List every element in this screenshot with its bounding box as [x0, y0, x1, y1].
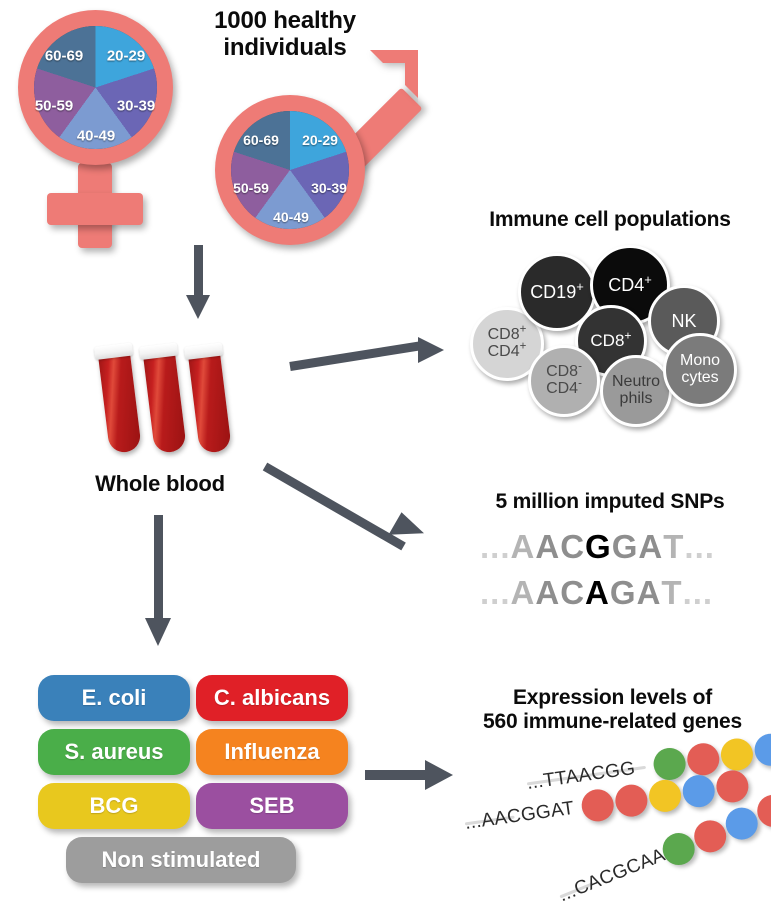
snp-allele-row: ...AACGGAT...: [480, 528, 715, 566]
pie-label-50-59: 50-59: [233, 180, 269, 196]
stimuli-panel: E. coli C. albicans S. aureus Influenza …: [38, 675, 348, 895]
stimulus-non-stimulated[interactable]: Non stimulated: [66, 837, 296, 883]
expression-title-line1: Expression levels of: [460, 686, 765, 710]
stimulus-influenza[interactable]: Influenza: [196, 729, 348, 775]
pie-label-60-69: 60-69: [45, 48, 83, 65]
pie-label-40-49: 40-49: [77, 128, 115, 145]
blood-tube: [187, 343, 232, 454]
stimulus-c-albicans[interactable]: C. albicans: [196, 675, 348, 721]
expression-bead: [647, 778, 683, 814]
snp-sequences: ...AACGGAT... ...AACAGAT...: [480, 528, 750, 618]
stimulus-e-coli[interactable]: E. coli: [38, 675, 190, 721]
stimulus-bcg[interactable]: BCG: [38, 783, 190, 829]
pie-label-20-29: 20-29: [302, 132, 338, 148]
snp-variant-allele-1: G: [585, 528, 612, 566]
male-symbol: 20-29 30-39 40-49 50-59 60-69: [210, 55, 410, 250]
expression-strands: ...TTAACGG ...AACGGAT ...CACGCAA: [455, 745, 771, 910]
pie-label-50-59: 50-59: [35, 98, 73, 115]
male-symbol-arrowhead: [362, 50, 418, 106]
arrow-blood-to-immune: [290, 330, 460, 380]
pie-label-60-69: 60-69: [243, 132, 279, 148]
blood-tube-body: [188, 352, 232, 454]
snp-variant-allele-2: A: [585, 574, 610, 612]
pie-label-40-49: 40-49: [273, 209, 309, 225]
arrowhead-icon: [145, 618, 171, 646]
arrow-blood-to-stimuli: [145, 515, 171, 655]
expression-bead: [580, 787, 616, 823]
immune-cell-monocytes: Monocytes: [663, 333, 737, 407]
immune-cell-populations-title: Immune cell populations: [455, 208, 765, 232]
expression-title: Expression levels of 560 immune-related …: [460, 686, 765, 733]
expression-bead: [714, 768, 750, 804]
snp-title: 5 million imputed SNPs: [460, 490, 760, 514]
pie-label-20-29: 20-29: [107, 48, 145, 65]
immune-cell-neutrophils: Neutrophils: [600, 355, 672, 427]
immune-cell-cluster: CD8+CD4+ CD19+ CD4+ NK CD8+ CD8-CD4- Neu…: [470, 245, 755, 415]
expression-title-line2: 560 immune-related genes: [460, 710, 765, 734]
stimulus-s-aureus[interactable]: S. aureus: [38, 729, 190, 775]
blood-tube: [142, 343, 187, 454]
blood-tube-body: [143, 352, 187, 454]
expression-sequence: ...AACGGAT: [463, 798, 575, 835]
stimulus-seb[interactable]: SEB: [196, 783, 348, 829]
pie-label-30-39: 30-39: [311, 180, 347, 196]
female-symbol: 20-29 30-39 40-49 50-59 60-69: [10, 8, 200, 248]
expression-bead: [719, 736, 755, 772]
immune-cell-cd8-cd4-double-negative: CD8-CD4-: [528, 345, 600, 417]
arrow-cohort-to-blood: [186, 245, 210, 320]
expression-sequence: ...CACGCAA: [556, 845, 669, 908]
expression-bead: [613, 783, 649, 819]
arrow-stimuli-to-expression: [365, 758, 465, 794]
arrowhead-icon: [186, 295, 210, 319]
pie-label-30-39: 30-39: [117, 98, 155, 115]
female-symbol-crossbar: [47, 193, 143, 225]
whole-blood-label: Whole blood: [70, 472, 250, 497]
expression-bead: [753, 732, 771, 768]
snp-allele-row: ...AACAGAT...: [480, 574, 713, 612]
arrowhead-icon: [425, 760, 453, 790]
blood-tube-body: [98, 352, 142, 454]
arrow-blood-to-snps: [265, 450, 455, 560]
whole-blood-tubes: [100, 340, 260, 460]
blood-tube: [97, 343, 142, 454]
expression-bead: [681, 773, 717, 809]
arrowhead-icon: [418, 337, 444, 363]
